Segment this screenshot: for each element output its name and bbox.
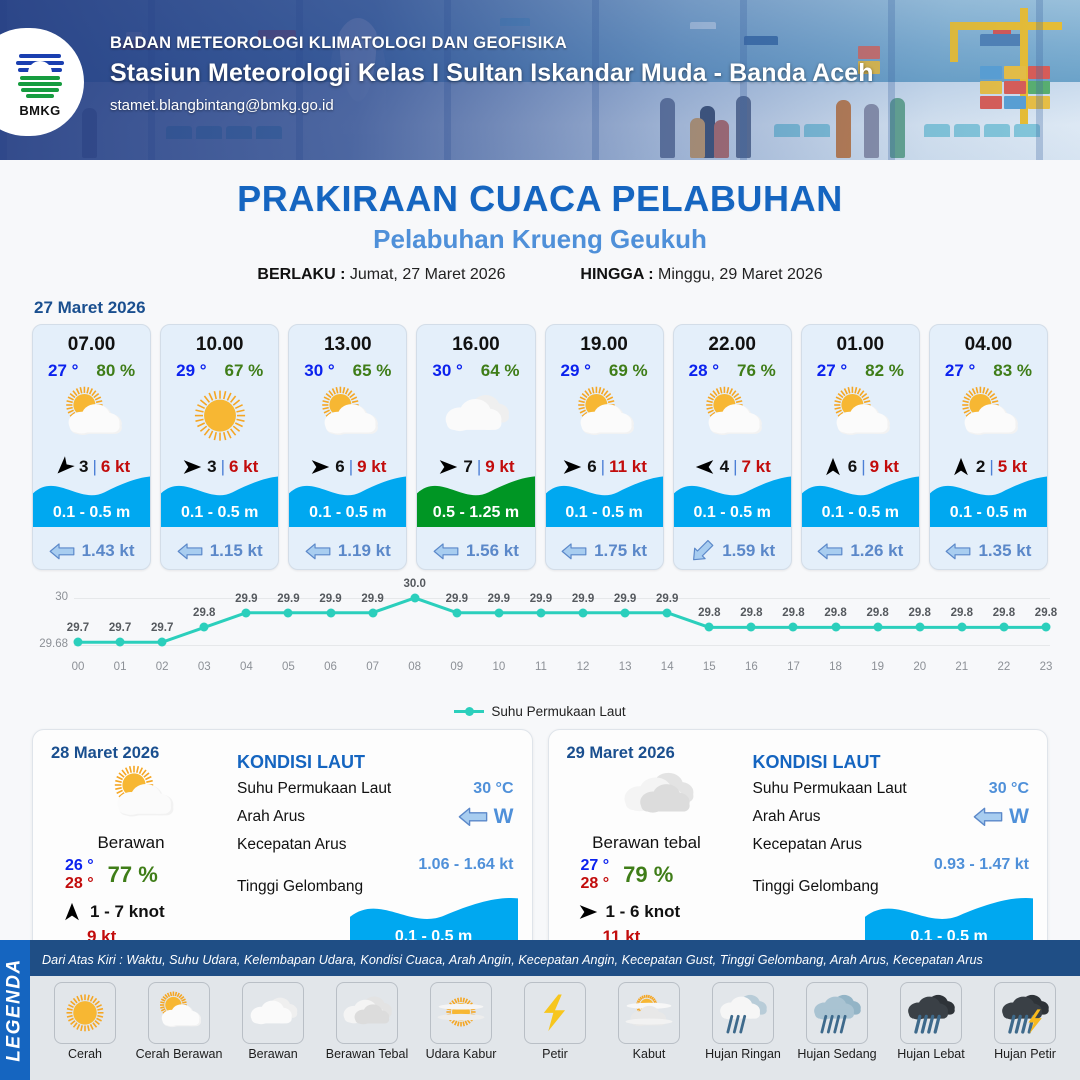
legenda-item-label: Hujan Sedang (797, 1048, 876, 1061)
panel-date: 28 Maret 2026 (51, 744, 233, 763)
page-subtitle: Pelabuhan Krueng Geukuh (0, 224, 1080, 255)
legenda-item-label: Hujan Lebat (897, 1048, 964, 1061)
wave-height-value: 0.1 - 0.5 m (161, 504, 278, 522)
data-label: 29.8 (951, 607, 973, 619)
temp-humidity-row: 27 ° 82 % (802, 361, 919, 381)
legenda-item-label: Cerah Berawan (136, 1048, 223, 1061)
legenda-item: Hujan Petir (980, 982, 1070, 1061)
forecast-card: 07.00 27 ° 80 % 3 | 6 kt 0.1 - 0.5 m (32, 324, 151, 570)
wind-direction-arrow-e-icon (577, 901, 599, 923)
legenda-icon-box (524, 982, 586, 1044)
data-label: 29.7 (67, 622, 89, 634)
x-axis-tick: 00 (72, 661, 85, 673)
agency-name: BADAN METEOROLOGI KLIMATOLOGI DAN GEOFIS… (110, 34, 874, 53)
data-point (831, 623, 840, 632)
air-temperature: 30 ° (432, 361, 462, 381)
x-axis-tick: 15 (703, 661, 716, 673)
hujan-ringan-icon (715, 991, 771, 1035)
legenda-item: Cerah Berawan (134, 982, 224, 1061)
forecast-time: 04.00 (930, 334, 1047, 356)
daily-forecast-panel: 28 Maret 2026 Berawan 26 ° 28 ° 77 % 1 (32, 729, 533, 969)
wave-height-block: 0.1 - 0.5 m (161, 469, 278, 527)
x-axis-tick: 01 (114, 661, 127, 673)
panel-left: 28 Maret 2026 Berawan 26 ° 28 ° 77 % 1 (33, 730, 233, 968)
data-label: 29.9 (572, 593, 594, 605)
panel-condition: Berawan (51, 833, 211, 853)
x-axis-tick: 10 (492, 661, 505, 673)
data-label: 29.8 (1035, 607, 1057, 619)
panel-condition: Berawan tebal (567, 833, 727, 853)
legenda-item-label: Udara Kabur (426, 1048, 497, 1061)
panel-wind-range: 1 - 6 knot (606, 902, 681, 922)
forecast-time: 19.00 (546, 334, 663, 356)
legenda-icon-box (148, 982, 210, 1044)
valid-from-label: BERLAKU : (257, 266, 345, 283)
legenda-icon-box (430, 982, 492, 1044)
cerah-berawan-icon (54, 386, 130, 445)
wave-height-value: 0.1 - 0.5 m (546, 504, 663, 522)
current-direction-arrow-w-icon (49, 542, 75, 561)
legenda-icon-box (900, 982, 962, 1044)
page-title: PRAKIRAAN CUACA PELABUHAN (0, 178, 1080, 220)
current-direction-value: W (1009, 805, 1029, 829)
temp-max: 28 ° (65, 875, 94, 893)
air-temperature: 28 ° (689, 361, 719, 381)
data-point (621, 608, 630, 617)
legenda-item: Petir (510, 982, 600, 1061)
panel-temp-humidity: 26 ° 28 ° 77 % (51, 857, 233, 893)
air-temperature: 30 ° (304, 361, 334, 381)
data-label: 29.8 (698, 607, 720, 619)
wind-direction-arrow-n-icon (61, 901, 83, 923)
data-label: 29.9 (488, 593, 510, 605)
current-speed: 1.26 kt (850, 541, 903, 561)
humidity: 65 % (353, 361, 392, 381)
data-label: 30.0 (403, 578, 425, 590)
panel-wind-row: 1 - 7 knot (51, 901, 233, 923)
x-axis-tick: 05 (282, 661, 295, 673)
current-direction-arrow-w-icon (433, 542, 459, 561)
sst-row: Suhu Permukaan Laut 30 °C (237, 780, 514, 798)
current-direction-value: W (494, 805, 514, 829)
wave-height-block: 0.1 - 0.5 m (546, 469, 663, 527)
data-label: 29.8 (193, 607, 215, 619)
current-speed: 1.75 kt (594, 541, 647, 561)
x-axis-tick: 13 (619, 661, 632, 673)
current-speed: 1.56 kt (466, 541, 519, 561)
x-axis-tick: 21 (955, 661, 968, 673)
x-axis-tick: 17 (787, 661, 800, 673)
legenda-icon-box (994, 982, 1056, 1044)
page-header: BMKG BADAN METEOROLOGI KLIMATOLOGI DAN G… (0, 0, 1080, 160)
data-label: 29.9 (235, 593, 257, 605)
current-direction-arrow-w-icon (305, 542, 331, 561)
current-speed: 1.35 kt (978, 541, 1031, 561)
legenda-icon-box (806, 982, 868, 1044)
bmkg-emblem-icon (12, 46, 68, 102)
panel-right: KONDISI LAUT Suhu Permukaan Laut 30 °C A… (749, 730, 1048, 968)
current-direction-arrow-w-icon (973, 806, 1003, 828)
valid-until-value: Minggu, 29 Maret 2026 (658, 266, 823, 283)
legenda-item: Hujan Sedang (792, 982, 882, 1061)
temp-max: 28 ° (581, 875, 610, 893)
x-axis-tick: 02 (156, 661, 169, 673)
data-label: 29.8 (909, 607, 931, 619)
wave-height-block: 0.1 - 0.5 m (930, 469, 1047, 527)
current-row: 1.15 kt (161, 541, 278, 561)
panel-wind-row: 1 - 6 knot (567, 901, 749, 923)
humidity: 82 % (865, 361, 904, 381)
legenda-item: Hujan Ringan (698, 982, 788, 1061)
forecast-card: 10.00 29 ° 67 % 3 | 6 kt 0.1 - 0.5 m 1.1… (160, 324, 279, 570)
legenda-icon-box (336, 982, 398, 1044)
panel-date: 29 Maret 2026 (567, 744, 749, 763)
legenda-icon-box (242, 982, 304, 1044)
berawan-tebal-icon (339, 991, 395, 1035)
temp-min: 27 ° (581, 857, 610, 875)
current-speed-value-row: 1.06 - 1.64 kt (237, 856, 514, 874)
wave-height-block: 0.1 - 0.5 m (674, 469, 791, 527)
air-temperature: 27 ° (817, 361, 847, 381)
x-axis-tick: 20 (913, 661, 926, 673)
forecast-time: 01.00 (802, 334, 919, 356)
weather-condition-icon (802, 385, 919, 447)
udara-kabur-icon (433, 991, 489, 1035)
legenda-item-label: Hujan Petir (994, 1048, 1056, 1061)
data-label: 29.9 (530, 593, 552, 605)
data-point (915, 623, 924, 632)
data-point (705, 623, 714, 632)
legenda-item-label: Berawan (248, 1048, 297, 1061)
cerah-berawan-icon (566, 386, 642, 445)
temp-humidity-row: 28 ° 76 % (674, 361, 791, 381)
daily-forecast-panel: 29 Maret 2026 Berawan tebal 27 ° 28 ° 79… (548, 729, 1049, 969)
humidity: 69 % (609, 361, 648, 381)
data-label: 29.9 (656, 593, 678, 605)
humidity: 64 % (481, 361, 520, 381)
sea-condition-title: KONDISI LAUT (753, 752, 1030, 773)
current-direction-row: Arah Arus W (753, 805, 1030, 829)
wave-height-block: 0.1 - 0.5 m (802, 469, 919, 527)
data-label: 29.8 (824, 607, 846, 619)
legend-marker-icon (454, 710, 484, 713)
header-text-block: BADAN METEOROLOGI KLIMATOLOGI DAN GEOFIS… (110, 34, 874, 114)
petir-icon (527, 991, 583, 1035)
current-direction-arrow-w-icon (561, 542, 587, 561)
legend-series-label: Suhu Permukaan Laut (491, 704, 625, 719)
temp-humidity-row: 27 ° 80 % (33, 361, 150, 381)
wave-height-label: Tinggi Gelombang (753, 878, 879, 896)
panel-right: KONDISI LAUT Suhu Permukaan Laut 30 °C A… (233, 730, 532, 968)
x-axis-tick: 18 (829, 661, 842, 673)
forecast-time: 22.00 (674, 334, 791, 356)
current-direction-arrow-w-icon (177, 542, 203, 561)
x-axis-tick: 09 (450, 661, 463, 673)
kabut-icon (621, 991, 677, 1035)
data-label: 29.9 (614, 593, 636, 605)
x-axis-tick: 08 (408, 661, 421, 673)
temp-humidity-row: 29 ° 67 % (161, 361, 278, 381)
station-name: Stasiun Meteorologi Kelas I Sultan Iskan… (110, 59, 874, 88)
current-row: 1.35 kt (930, 541, 1047, 561)
temp-min: 26 ° (65, 857, 94, 875)
current-speed-value: 1.06 - 1.64 kt (418, 856, 513, 874)
data-point (242, 608, 251, 617)
data-label: 29.9 (446, 593, 468, 605)
cerah-berawan-icon (694, 386, 770, 445)
data-label: 29.9 (361, 593, 383, 605)
data-label: 29.7 (151, 622, 173, 634)
panel-left: 29 Maret 2026 Berawan tebal 27 ° 28 ° 79… (549, 730, 749, 968)
forecast-time: 16.00 (417, 334, 534, 356)
air-temperature: 27 ° (945, 361, 975, 381)
legenda-side-tab: LEGENDA (0, 940, 30, 1080)
temp-humidity-row: 29 ° 69 % (546, 361, 663, 381)
cerah-berawan-icon (151, 991, 207, 1035)
x-axis-tick: 16 (745, 661, 758, 673)
wave-height-block: 0.5 - 1.25 m (417, 469, 534, 527)
x-axis-tick: 06 (324, 661, 337, 673)
data-point (368, 608, 377, 617)
weather-condition-icon (161, 385, 278, 447)
cerah-icon (182, 386, 258, 445)
current-direction-value-wrap: W (973, 805, 1029, 829)
data-point (284, 608, 293, 617)
forecast-card: 04.00 27 ° 83 % 2 | 5 kt 0.1 - 0.5 m (929, 324, 1048, 570)
current-row: 1.59 kt (674, 541, 791, 561)
data-point (663, 608, 672, 617)
temp-humidity-row: 30 ° 64 % (417, 361, 534, 381)
current-speed-label: Kecepatan Arus (237, 836, 346, 854)
data-point (999, 623, 1008, 632)
berawan-icon (245, 991, 301, 1035)
data-point (326, 608, 335, 617)
data-point (536, 608, 545, 617)
x-axis-tick: 07 (366, 661, 379, 673)
weather-condition-icon (546, 385, 663, 447)
data-label: 29.7 (109, 622, 131, 634)
current-direction-arrow-w-icon (945, 542, 971, 561)
air-temperature: 27 ° (48, 361, 78, 381)
title-block: PRAKIRAAN CUACA PELABUHAN Pelabuhan Krue… (0, 178, 1080, 284)
current-speed-row: Kecepatan Arus (237, 836, 514, 854)
wave-height-label: Tinggi Gelombang (237, 878, 363, 896)
humidity: 80 % (96, 361, 135, 381)
x-axis-tick: 03 (198, 661, 211, 673)
data-point (747, 623, 756, 632)
legenda-item: Berawan (228, 982, 318, 1061)
data-point (1042, 623, 1051, 632)
x-axis-tick: 04 (240, 661, 253, 673)
forecast-card: 22.00 28 ° 76 % 4 | 7 kt 0.1 - 0.5 m (673, 324, 792, 570)
current-speed-row: Kecepatan Arus (753, 836, 1030, 854)
current-row: 1.26 kt (802, 541, 919, 561)
weather-condition-icon (33, 385, 150, 447)
current-row: 1.19 kt (289, 541, 406, 561)
forecast-card: 19.00 29 ° 69 % 6 | 11 kt 0.1 - 0.5 m (545, 324, 664, 570)
day1-date-label: 27 Maret 2026 (34, 298, 1080, 318)
hujan-lebat-icon (903, 991, 959, 1035)
weather-condition-icon (289, 385, 406, 447)
current-direction-arrow-sw-icon (689, 542, 715, 561)
cerah-berawan-icon (310, 386, 386, 445)
weather-condition-icon (674, 385, 791, 447)
wave-height-value: 0.1 - 0.5 m (33, 504, 150, 522)
x-axis-tick: 14 (661, 661, 674, 673)
current-row: 1.43 kt (33, 541, 150, 561)
cerah-berawan-icon (950, 386, 1026, 445)
x-axis-tick: 11 (535, 661, 547, 673)
legenda-icon-list: Cerah Cerah Berawan Berawan (30, 976, 1080, 1080)
humidity: 67 % (225, 361, 264, 381)
berawan-tebal-icon (618, 765, 698, 827)
legenda-item: Udara Kabur (416, 982, 506, 1061)
data-point (74, 638, 83, 647)
forecast-time: 13.00 (289, 334, 406, 356)
sst-chart: 3029.68 29.70029.70129.70229.80329.90429… (0, 586, 1080, 698)
forecast-card: 16.00 30 ° 64 % 7 | 9 kt 0.5 - 1.25 m (416, 324, 535, 570)
data-label: 29.9 (277, 593, 299, 605)
data-point (410, 593, 419, 602)
legenda-item: Cerah (40, 982, 130, 1061)
sst-value: 30 °C (473, 780, 513, 798)
current-speed-value-row: 0.93 - 1.47 kt (753, 856, 1030, 874)
panel-weather-icon (51, 765, 233, 827)
temp-humidity-row: 27 ° 83 % (930, 361, 1047, 381)
wave-height-value: 0.1 - 0.5 m (289, 504, 406, 522)
panel-weather-icon (567, 765, 749, 827)
x-axis-tick: 19 (871, 661, 884, 673)
humidity: 76 % (737, 361, 776, 381)
panel-temp-humidity: 27 ° 28 ° 79 % (567, 857, 749, 893)
forecast-card: 01.00 27 ° 82 % 6 | 9 kt 0.1 - 0.5 m (801, 324, 920, 570)
legenda-section: LEGENDA Dari Atas Kiri : Waktu, Suhu Uda… (0, 940, 1080, 1080)
legenda-icon-box (54, 982, 116, 1044)
wave-height-value: 0.1 - 0.5 m (674, 504, 791, 522)
wave-height-block: 0.1 - 0.5 m (289, 469, 406, 527)
wave-height-block: 0.1 - 0.5 m (33, 469, 150, 527)
sea-condition-title: KONDISI LAUT (237, 752, 514, 773)
berawan-icon (438, 386, 514, 445)
current-speed: 1.43 kt (82, 541, 135, 561)
legenda-item-label: Cerah (68, 1048, 102, 1061)
forecast-time: 10.00 (161, 334, 278, 356)
cerah-berawan-icon (102, 765, 182, 827)
panel-humidity: 79 % (623, 862, 673, 888)
cerah-icon (57, 991, 113, 1035)
legenda-item: Berawan Tebal (322, 982, 412, 1061)
current-speed: 1.59 kt (722, 541, 775, 561)
wave-height-value: 0.1 - 0.5 m (802, 504, 919, 522)
chart-legend: Suhu Permukaan Laut (0, 704, 1080, 719)
air-temperature: 29 ° (560, 361, 590, 381)
temp-humidity-row: 30 ° 65 % (289, 361, 406, 381)
current-direction-arrow-w-icon (817, 542, 843, 561)
panel-wind-range: 1 - 7 knot (90, 902, 165, 922)
data-label: 29.8 (866, 607, 888, 619)
daily-forecast-panels: 28 Maret 2026 Berawan 26 ° 28 ° 77 % 1 (0, 719, 1080, 969)
legenda-item-label: Berawan Tebal (326, 1048, 408, 1061)
data-point (957, 623, 966, 632)
cerah-berawan-icon (822, 386, 898, 445)
hourly-forecast-row: 07.00 27 ° 80 % 3 | 6 kt 0.1 - 0.5 m (0, 318, 1080, 570)
data-label: 29.8 (740, 607, 762, 619)
hujan-petir-icon (997, 991, 1053, 1035)
legenda-item-label: Kabut (633, 1048, 666, 1061)
current-direction-row: Arah Arus W (237, 805, 514, 829)
legenda-note: Dari Atas Kiri : Waktu, Suhu Udara, Kele… (42, 953, 983, 967)
humidity: 83 % (993, 361, 1032, 381)
legenda-icon-box (618, 982, 680, 1044)
current-direction-label: Arah Arus (237, 808, 305, 826)
sst-row: Suhu Permukaan Laut 30 °C (753, 780, 1030, 798)
bmkg-logo-text: BMKG (19, 103, 60, 118)
current-speed-label: Kecepatan Arus (753, 836, 862, 854)
legenda-item: Hujan Lebat (886, 982, 976, 1061)
sst-value: 30 °C (989, 780, 1029, 798)
current-row: 1.56 kt (417, 541, 534, 561)
forecast-time: 07.00 (33, 334, 150, 356)
hujan-sedang-icon (809, 991, 865, 1035)
sst-label: Suhu Permukaan Laut (753, 780, 907, 798)
forecast-card: 13.00 30 ° 65 % 6 | 9 kt 0.1 - 0.5 m (288, 324, 407, 570)
x-axis-tick: 12 (577, 661, 590, 673)
data-label: 29.9 (319, 593, 341, 605)
data-point (494, 608, 503, 617)
current-speed: 1.19 kt (338, 541, 391, 561)
wave-height-value: 0.5 - 1.25 m (417, 504, 534, 522)
current-row: 1.75 kt (546, 541, 663, 561)
legenda-item: Kabut (604, 982, 694, 1061)
data-label: 29.8 (993, 607, 1015, 619)
data-point (579, 608, 588, 617)
x-axis-tick: 23 (1040, 661, 1053, 673)
valid-from-value: Jumat, 27 Maret 2026 (350, 266, 506, 283)
data-point (158, 638, 167, 647)
data-point (789, 623, 798, 632)
current-direction-label: Arah Arus (753, 808, 821, 826)
wave-height-value: 0.1 - 0.5 m (930, 504, 1047, 522)
weather-condition-icon (417, 385, 534, 447)
current-speed-value: 0.93 - 1.47 kt (934, 856, 1029, 874)
station-email: stamet.blangbintang@bmkg.go.id (110, 97, 874, 114)
legenda-item-label: Hujan Ringan (705, 1048, 781, 1061)
legenda-icon-box (712, 982, 774, 1044)
data-point (116, 638, 125, 647)
current-speed: 1.15 kt (210, 541, 263, 561)
x-axis-tick: 22 (998, 661, 1011, 673)
data-label: 29.8 (782, 607, 804, 619)
data-point (873, 623, 882, 632)
weather-condition-icon (930, 385, 1047, 447)
validity-row: BERLAKU : Jumat, 27 Maret 2026 HINGGA : … (0, 266, 1080, 284)
legenda-side-label: LEGENDA (4, 958, 26, 1061)
current-direction-arrow-w-icon (458, 806, 488, 828)
sst-label: Suhu Permukaan Laut (237, 780, 391, 798)
current-direction-value-wrap: W (458, 805, 514, 829)
valid-until-label: HINGGA : (580, 266, 653, 283)
data-point (452, 608, 461, 617)
legenda-item-label: Petir (542, 1048, 568, 1061)
data-point (200, 623, 209, 632)
air-temperature: 29 ° (176, 361, 206, 381)
panel-humidity: 77 % (108, 862, 158, 888)
